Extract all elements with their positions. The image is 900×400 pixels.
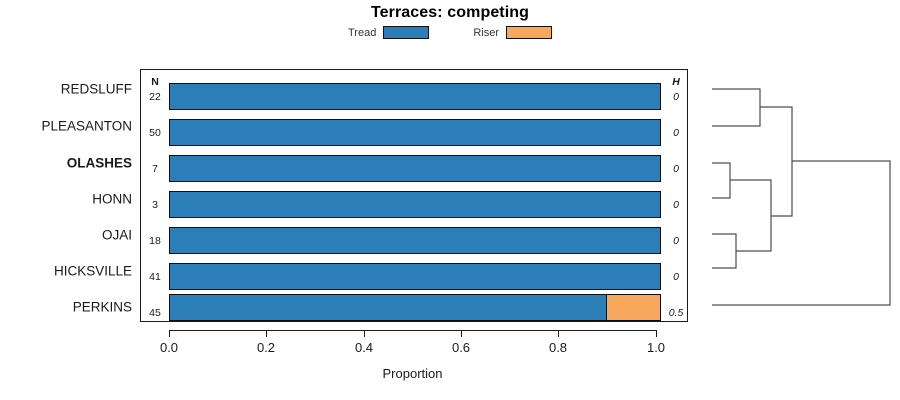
y-axis-label-pleasanton: PLEASANTON: [0, 119, 132, 134]
h-value-pleasanton: 0: [663, 127, 689, 139]
bar-segment-tread: [170, 264, 660, 289]
dendrogram-link-olashes-honn: [712, 163, 730, 198]
bar-segment-tread: [170, 120, 660, 145]
h-value-hicksville: 0: [663, 271, 689, 283]
color-swatch-icon-tread: [383, 26, 429, 39]
x-axis-tick-label: 0.4: [355, 340, 373, 355]
x-axis-line: [169, 330, 656, 331]
x-axis-tick-label: 0.6: [452, 340, 470, 355]
dendrogram-link-redsluff-pleasanton: [712, 89, 760, 126]
n-value-ojai: 18: [141, 235, 169, 247]
x-axis-tick: [364, 330, 365, 337]
y-axis-label-ojai: OJAI: [0, 228, 132, 243]
h-column: H 0 0 0 0 0 0 0.5: [663, 69, 689, 322]
n-value-honn: 3: [141, 199, 169, 211]
x-axis-title: Proportion: [169, 366, 656, 381]
y-axis-label-redsluff: REDSLUFF: [0, 82, 132, 97]
dendrogram: [700, 60, 900, 340]
chart-legend: Tread Riser: [0, 26, 900, 39]
y-axis-label-hicksville: HICKSVILLE: [0, 264, 132, 279]
n-column: N 22 50 7 3 18 41 45: [141, 69, 169, 322]
x-axis-tick: [558, 330, 559, 337]
h-value-honn: 0: [663, 199, 689, 211]
y-axis-labels: REDSLUFF PLEASANTON OLASHES HONN OJAI HI…: [0, 69, 136, 322]
color-swatch-icon-riser: [506, 26, 552, 39]
y-axis-label-olashes: OLASHES: [0, 156, 132, 171]
dendrogram-link-ojai-hicksville: [712, 234, 736, 268]
x-axis-tick: [266, 330, 267, 337]
bar-segment-tread: [170, 228, 660, 253]
legend-label-tread: Tread: [348, 27, 376, 39]
page-title: Terraces: competing: [0, 4, 900, 22]
h-value-ojai: 0: [663, 235, 689, 247]
x-axis-tick-label: 1.0: [647, 340, 665, 355]
chart-canvas: Terraces: competing Tread Riser REDSLUFF…: [0, 0, 900, 400]
x-axis-tick-label: 0.0: [160, 340, 178, 355]
x-axis-tick: [461, 330, 462, 337]
n-column-header: N: [141, 76, 169, 88]
x-axis-tick: [169, 330, 170, 337]
table-row: [169, 155, 661, 182]
table-row: [169, 83, 661, 110]
bar-segment-tread: [170, 192, 660, 217]
h-value-perkins: 0.5: [663, 307, 689, 319]
h-column-header: H: [663, 76, 689, 88]
h-value-olashes: 0: [663, 163, 689, 175]
bar-segment-riser: [606, 295, 660, 320]
bar-segment-tread: [170, 84, 660, 109]
table-row: [169, 263, 661, 290]
y-axis-label-perkins: PERKINS: [0, 300, 132, 315]
bar-segment-tread: [170, 156, 660, 181]
h-value-redsluff: 0: [663, 91, 689, 103]
table-row: [169, 227, 661, 254]
table-row: [169, 119, 661, 146]
x-axis-tick-label: 0.8: [549, 340, 567, 355]
x-axis-tick: [656, 330, 657, 337]
y-axis-label-honn: HONN: [0, 192, 132, 207]
legend-item-riser: Riser: [473, 26, 552, 39]
n-value-perkins: 45: [141, 307, 169, 319]
table-row: [169, 191, 661, 218]
table-row: [169, 294, 661, 321]
n-value-redsluff: 22: [141, 91, 169, 103]
dendrogram-link-root: [712, 161, 890, 305]
legend-label-riser: Riser: [473, 27, 499, 39]
n-value-pleasanton: 50: [141, 127, 169, 139]
x-axis-tick-label: 0.2: [257, 340, 275, 355]
n-value-hicksville: 41: [141, 271, 169, 283]
bar-segment-tread: [170, 295, 606, 320]
dendrogram-link-upper-cluster: [760, 107, 792, 216]
n-value-olashes: 7: [141, 163, 169, 175]
legend-item-tread: Tread: [348, 26, 429, 39]
